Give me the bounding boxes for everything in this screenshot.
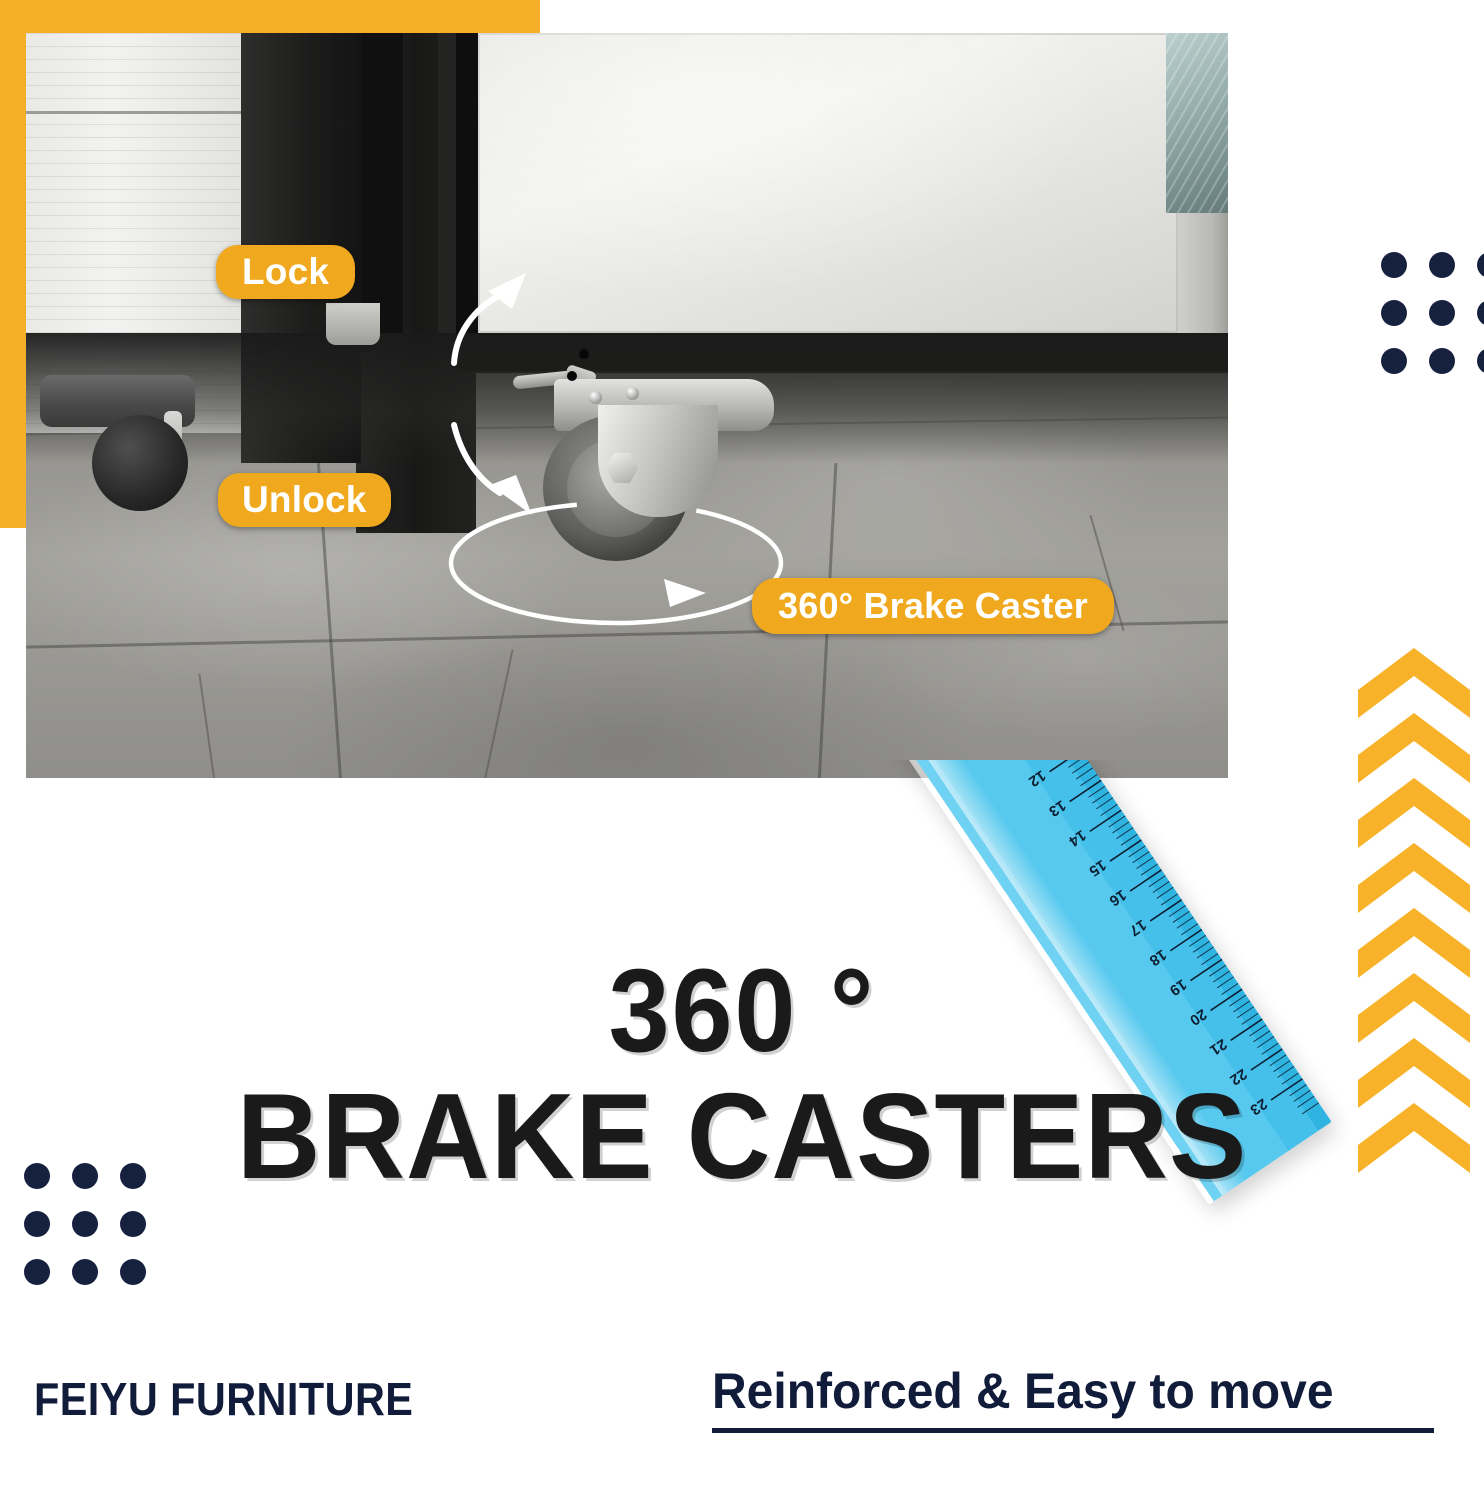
accent-frame-left [0,0,26,528]
brand-name: FEIYU FURNITURE [34,1372,413,1426]
chevron-icon [1358,1103,1470,1173]
dot [24,1211,50,1237]
badge-lock: Lock [216,245,355,299]
dot [1477,300,1484,326]
ruler-scale: 0 1 2 3 4 5 6 7 8 9 10 11 12 13 14 15 16 [706,760,1332,1205]
chevron-icon [1358,778,1470,848]
tagline-block: Reinforced & Easy to move [712,1362,1440,1420]
chevron-icon [1358,908,1470,978]
rotation-arrow-head [664,579,706,607]
headline-line-2: BRAKE CASTERS [37,1074,1447,1198]
lock-arrow-head [488,273,526,309]
lock-arrow-curve [454,295,500,363]
dot [1381,348,1407,374]
chevron-icon [1358,648,1470,718]
badge-360-brake-caster: 360° Brake Caster [752,578,1114,634]
ruler-tick-label: 19 [1166,975,1189,998]
dot [1429,252,1455,278]
ruler-tick-label: 15 [1086,856,1109,879]
tagline-text: Reinforced & Easy to move [712,1362,1411,1420]
dot [1429,300,1455,326]
rotation-ellipse [451,503,781,623]
chevron-icon [1358,713,1470,783]
chevron-icon [1358,1038,1470,1108]
dot [1477,252,1484,278]
dot [120,1163,146,1189]
ruler-tick-label: 13 [1046,796,1069,819]
ruler-highlight [719,760,1247,1196]
ruler-tick-label: 22 [1227,1065,1250,1088]
dot-grid-top-right [1381,252,1484,374]
dot [24,1163,50,1189]
tagline-underline [712,1428,1434,1433]
dot [72,1259,98,1285]
dot [1381,252,1407,278]
headline-line-1: 360 ° [52,952,1432,1070]
dot [1429,348,1455,374]
accent-frame-top [0,0,540,33]
ruler-tick-label: 16 [1106,886,1129,909]
badge-unlock: Unlock [218,473,391,527]
ruler-tick-label: 20 [1186,1005,1209,1028]
dot [24,1259,50,1285]
unlock-arrow-curve [454,425,500,493]
ruler-tick-label: 21 [1207,1035,1230,1058]
chevron-icon [1358,843,1470,913]
dot [1477,348,1484,374]
dot [120,1211,146,1237]
dot [1381,300,1407,326]
ruler-tick-label: 17 [1126,916,1149,939]
ruler-tick-label: 18 [1146,946,1169,969]
chevron-stack [1352,646,1476,1176]
headline-block: 360 ° BRAKE CASTERS [0,952,1484,1198]
chevron-icon [1358,973,1470,1043]
ruler-tick-label: 14 [1065,826,1089,850]
product-photo: Lock Unlock 360° Brake Caster [26,33,1228,778]
dot [72,1163,98,1189]
dot [72,1211,98,1237]
dot [120,1259,146,1285]
unlock-arrow-head [490,475,532,515]
dot-grid-bottom-left [24,1163,146,1285]
poster-canvas: Lock Unlock 360° Brake Caster [0,0,1484,1500]
blue-ruler: 0 1 2 3 4 5 6 7 8 9 10 11 12 13 14 15 16 [706,760,1332,1205]
ruler-tick-label: 23 [1247,1095,1270,1118]
annotation-arrows [26,33,1228,778]
